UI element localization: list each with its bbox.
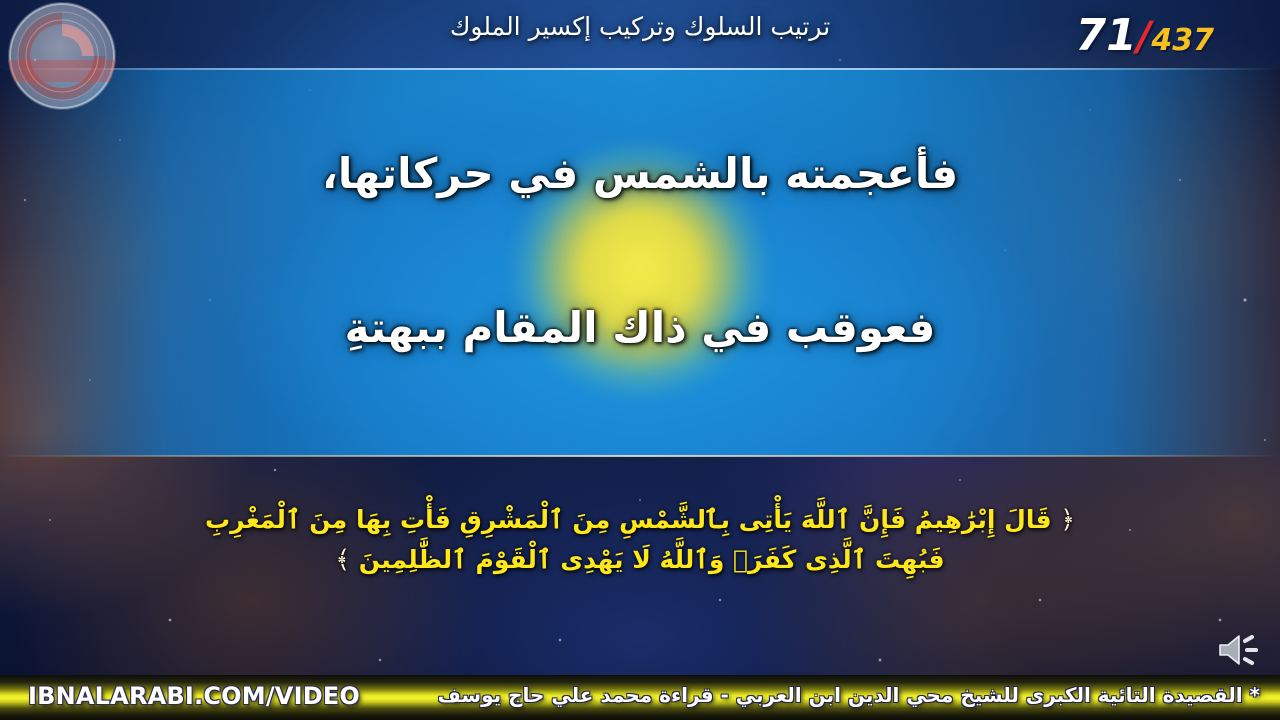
quote-open-ornament-icon: ﴿	[1060, 505, 1075, 534]
poem-line-1: فأعجمته بالشمس في حركاتها،	[0, 148, 1280, 201]
counter-separator: /	[1137, 14, 1152, 60]
divider-top	[0, 68, 1280, 70]
footer-website-url[interactable]: IBNALARABI.COM/VIDEO	[28, 682, 360, 710]
counter-total: 437	[1151, 23, 1214, 58]
footer-credit-text: * القصيدة التائية الكبرى للشيخ محي الدين…	[438, 683, 1260, 707]
header-bar: ترتيب السلوك وتركيب إكسير الملوك 71/437	[0, 0, 1280, 68]
counter-current: 71	[1076, 10, 1137, 61]
poem-line-2: فعوقب في ذاك المقام ببهتةِ	[0, 302, 1280, 355]
quote-close-ornament-icon: ﴾	[335, 545, 350, 574]
quran-quote: ﴿ قَالَ إِبْرَٰهِيمُ فَإِنَّ ٱللَّهَ يَأ…	[40, 500, 1240, 579]
slide-stage: ترتيب السلوك وتركيب إكسير الملوك 71/437 …	[0, 0, 1280, 720]
divider-bottom	[0, 455, 1280, 457]
sun-glow-icon	[430, 90, 850, 450]
page-counter: 71/437	[1076, 14, 1214, 58]
quote-line-2-text: فَبُهِتَ ٱلَّذِى كَفَرَۗ وَٱللَّهُ لَا ي…	[359, 545, 945, 574]
speaker-volume-icon[interactable]	[1214, 628, 1266, 672]
footer-bar: IBNALARABI.COM/VIDEO * القصيدة التائية ا…	[0, 675, 1280, 720]
spiral-wave-logo-icon	[8, 2, 116, 110]
quote-line-1: ﴿ قَالَ إِبْرَٰهِيمُ فَإِنَّ ٱللَّهَ يَأ…	[40, 500, 1240, 540]
quote-line-1-text: قَالَ إِبْرَٰهِيمُ فَإِنَّ ٱللَّهَ يَأْت…	[205, 505, 1052, 534]
quote-line-2: فَبُهِتَ ٱلَّذِى كَفَرَۗ وَٱللَّهُ لَا ي…	[40, 540, 1240, 580]
